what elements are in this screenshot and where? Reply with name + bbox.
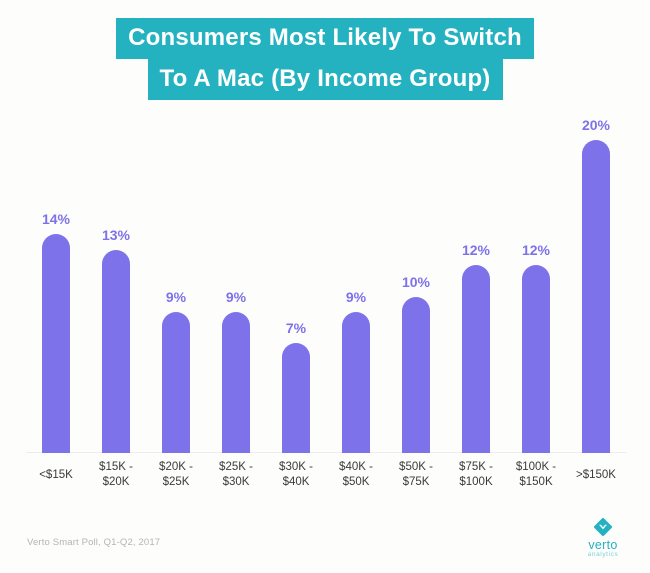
bar[interactable] [462, 265, 490, 453]
bar-value-label: 12% [446, 243, 506, 257]
title-line-1: Consumers Most Likely To Switch [116, 18, 534, 59]
x-axis-tick-label: $75K -$100K [446, 460, 506, 490]
bar[interactable] [342, 312, 370, 453]
diamond-logo-icon [592, 516, 614, 538]
bar-value-label: 14% [26, 212, 86, 226]
chart-title: Consumers Most Likely To Switch To A Mac… [0, 18, 650, 100]
plot-area: 14%13%9%9%7%9%10%12%12%20% [26, 110, 626, 453]
bar[interactable] [222, 312, 250, 453]
bar-value-label: 10% [386, 275, 446, 289]
bar-slot: 12% [506, 110, 566, 453]
bar-slot: 14% [26, 110, 86, 453]
bar-value-label: 20% [566, 118, 626, 132]
bar[interactable] [282, 343, 310, 453]
bar-value-label: 9% [206, 290, 266, 304]
logo-wordmark: verto [574, 539, 632, 551]
x-axis-tick-label: $20K -$25K [146, 460, 206, 490]
bar[interactable] [582, 140, 610, 453]
bar-slot: 9% [146, 110, 206, 453]
logo-subtext: analytics [574, 551, 632, 559]
x-axis-labels: <$15K$15K -$20K$20K -$25K$25K -$30K$30K … [26, 460, 626, 500]
bar-slot: 9% [206, 110, 266, 453]
x-axis-tick-label: <$15K [26, 460, 86, 490]
x-axis-tick-label: $100K -$150K [506, 460, 566, 490]
bar-value-label: 9% [146, 290, 206, 304]
bar-value-label: 13% [86, 228, 146, 242]
x-axis-tick-label: $50K -$75K [386, 460, 446, 490]
bar-slot: 10% [386, 110, 446, 453]
bar-slot: 7% [266, 110, 326, 453]
bar-slot: 9% [326, 110, 386, 453]
bar-slot: 12% [446, 110, 506, 453]
bar[interactable] [162, 312, 190, 453]
x-axis-tick-label: $30K -$40K [266, 460, 326, 490]
bar-value-label: 7% [266, 321, 326, 335]
bar-value-label: 12% [506, 243, 566, 257]
bar[interactable] [102, 250, 130, 453]
verto-analytics-logo: verto analytics [574, 516, 632, 559]
bar[interactable] [42, 234, 70, 453]
x-axis-tick-label: $15K -$20K [86, 460, 146, 490]
title-line-2: To A Mac (By Income Group) [148, 59, 503, 100]
x-axis-tick-label: $40K -$50K [326, 460, 386, 490]
bar-slot: 20% [566, 110, 626, 453]
source-note: Verto Smart Poll, Q1-Q2, 2017 [27, 537, 160, 548]
chart-card: Consumers Most Likely To Switch To A Mac… [0, 0, 650, 573]
bar[interactable] [522, 265, 550, 453]
bar-slot: 13% [86, 110, 146, 453]
bar[interactable] [402, 297, 430, 454]
x-axis-tick-label: $25K -$30K [206, 460, 266, 490]
x-axis-tick-label: >$150K [566, 460, 626, 490]
bar-value-label: 9% [326, 290, 386, 304]
